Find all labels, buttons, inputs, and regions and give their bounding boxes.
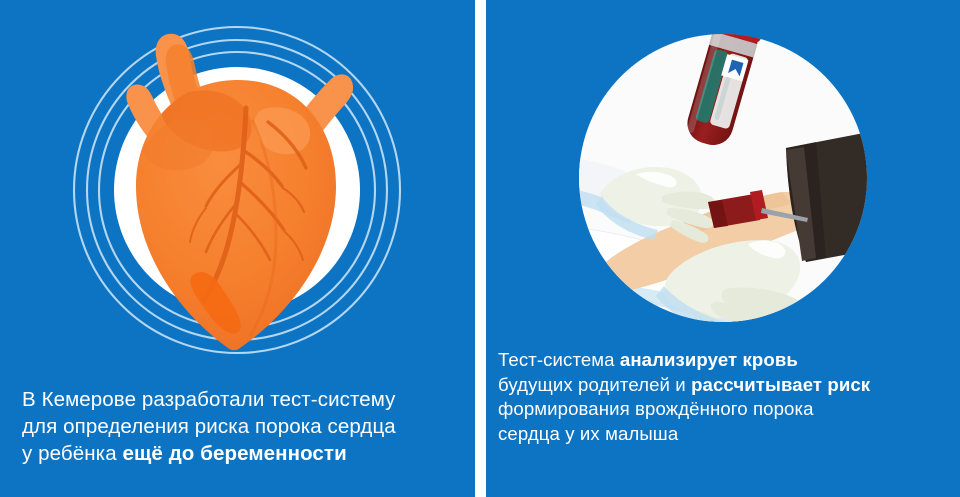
- caption-emphasis: рассчитывает риск: [691, 374, 870, 395]
- caption-left: В Кемерове разработали тест-систему для …: [0, 386, 475, 467]
- caption-text: формирования врождённого порока: [498, 398, 814, 419]
- anatomical-heart-illustration: [0, 0, 475, 360]
- infographic-root: В Кемерове разработали тест-систему для …: [0, 0, 960, 497]
- coat-cuff-upper: [486, 160, 530, 200]
- caption-right-line-3: формирования врождённого порока: [498, 397, 946, 422]
- caption-text: сердца у их малыша: [498, 423, 678, 444]
- caption-left-line-2: для определения риска порока сердца: [22, 413, 457, 440]
- caption-right-line-4: сердца у их малыша: [498, 422, 946, 447]
- blood-draw-illustration: [486, 0, 960, 360]
- caption-right: Тест-система анализирует кровь будущих р…: [486, 348, 960, 446]
- caption-left-line-1: В Кемерове разработали тест-систему: [22, 386, 457, 413]
- caption-text: Тест-система: [498, 349, 620, 370]
- panel-left: В Кемерове разработали тест-систему для …: [0, 0, 475, 497]
- panel-right: Тест-система анализирует кровь будущих р…: [486, 0, 960, 497]
- caption-right-line-2: будущих родителей и рассчитывает риск: [498, 373, 946, 398]
- caption-emphasis: ещё до беременности: [123, 442, 347, 465]
- caption-left-line-3: у ребёнка ещё до беременности: [22, 440, 457, 467]
- caption-emphasis: анализирует кровь: [620, 349, 798, 370]
- caption-text: у ребёнка: [22, 442, 123, 465]
- caption-text: будущих родителей и: [498, 374, 691, 395]
- caption-text: В Кемерове разработали тест-систему: [22, 388, 396, 411]
- caption-right-line-1: Тест-система анализирует кровь: [498, 348, 946, 373]
- panel-divider: [475, 0, 486, 497]
- caption-text: для определения риска порока сердца: [22, 415, 396, 438]
